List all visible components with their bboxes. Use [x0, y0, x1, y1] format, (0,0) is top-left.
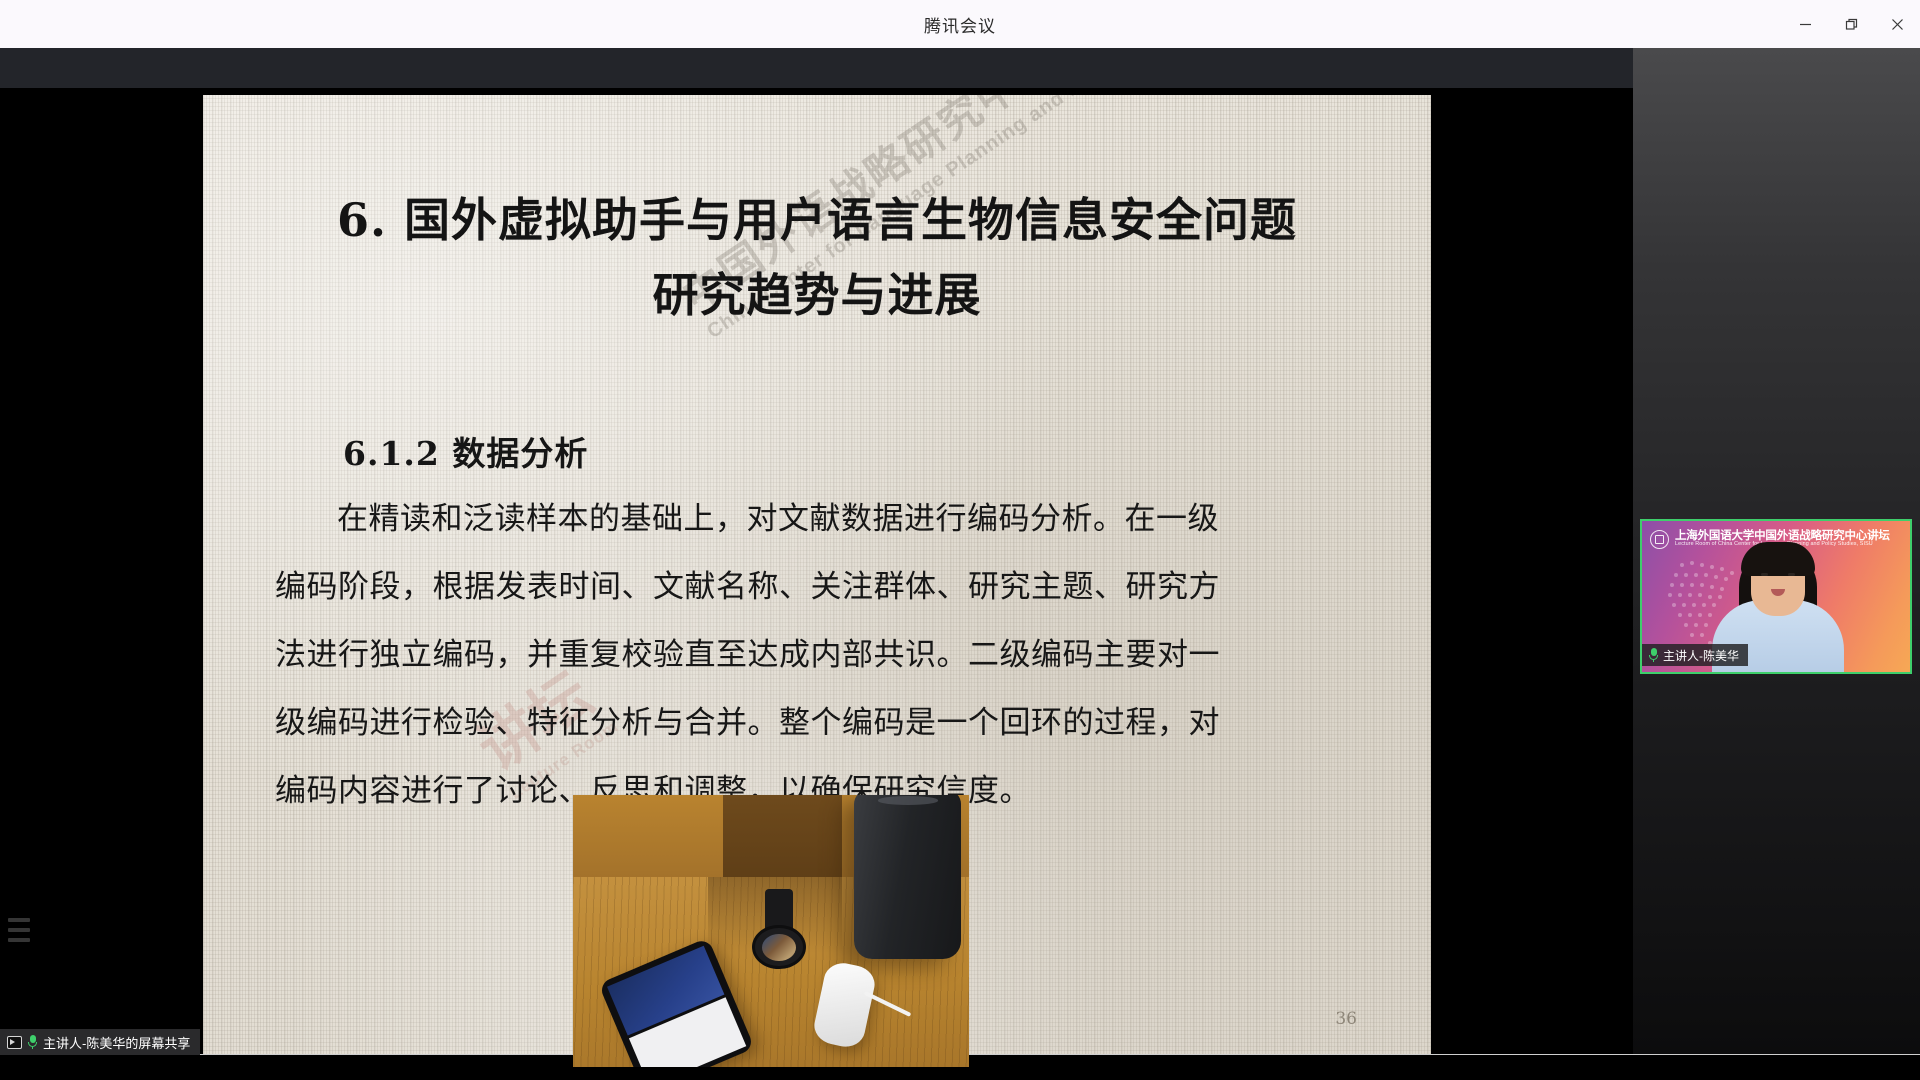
slide-title-line-2: 研究趋势与进展	[203, 258, 1431, 333]
list-line	[8, 928, 30, 932]
slide-title: 6. 国外虚拟助手与用户语言生物信息安全问题 研究趋势与进展	[203, 183, 1431, 332]
slide-body-text: 在精读和泛读样本的基础上，对文献数据进行编码分析。在一级 编码阶段，根据发表时间…	[275, 485, 1360, 825]
shared-screen-stage[interactable]: 中国外语战略研究中心 China Center for Language Pla…	[0, 48, 1633, 1054]
meeting-window-body: 中国外语战略研究中心 China Center for Language Pla…	[0, 48, 1920, 1080]
shared-screen-top-strip	[0, 48, 1633, 88]
photo-smart-speaker	[854, 795, 961, 959]
slide-body-line: 级编码进行检验、特征分析与合并。整个编码是一个回环的过程，对	[275, 689, 1360, 757]
slide-photo-smart-devices	[573, 795, 969, 1067]
window-controls	[1782, 0, 1920, 48]
person-eye-right	[1788, 573, 1795, 576]
microphone-icon	[28, 1035, 37, 1049]
speaker-name-label: 主讲人-陈美华	[1663, 647, 1739, 664]
minimize-button[interactable]	[1782, 0, 1828, 48]
presentation-slide: 中国外语战略研究中心 China Center for Language Pla…	[203, 95, 1431, 1067]
photo-wall-shadow	[723, 795, 842, 888]
speaker-video-tile[interactable]: 上海外国语大学中国外语战略研究中心讲坛 Lecture Room of Chin…	[1640, 519, 1912, 674]
person-hair-top	[1741, 542, 1815, 576]
list-line	[8, 938, 30, 942]
restore-button[interactable]	[1828, 0, 1874, 48]
slide-page-number: 36	[1335, 1009, 1357, 1029]
app-title: 腾讯会议	[924, 12, 996, 37]
slide-body-line: 编码阶段，根据发表时间、文献名称、关注群体、研究主题、研究方	[275, 553, 1360, 621]
screen-share-status-chip: 主讲人-陈美华的屏幕共享	[0, 1029, 200, 1055]
person-eye-left	[1761, 573, 1768, 576]
close-button[interactable]	[1874, 0, 1920, 48]
slide-body-line: 在精读和泛读样本的基础上，对文献数据进行编码分析。在一级	[275, 485, 1360, 553]
screen-share-icon	[7, 1036, 22, 1049]
speaker-name-tag: 主讲人-陈美华	[1642, 644, 1748, 666]
list-line	[8, 918, 30, 922]
university-logo-icon	[1650, 530, 1669, 549]
slide-subheading: 6.1.2 数据分析	[343, 427, 588, 475]
photo-smart-watch	[747, 904, 810, 975]
slide-title-line-1: 6. 国外虚拟助手与用户语言生物信息安全问题	[203, 183, 1431, 258]
list-menu-icon[interactable]	[8, 918, 30, 942]
window-title-bar: 腾讯会议	[0, 0, 1920, 48]
photo-watch-face	[752, 925, 805, 969]
microphone-icon	[1649, 648, 1658, 662]
slide-body-line: 法进行独立编码，并重复校验直至达成内部共识。二级编码主要对一	[275, 621, 1360, 689]
screen-share-label: 主讲人-陈美华的屏幕共享	[43, 1033, 190, 1052]
